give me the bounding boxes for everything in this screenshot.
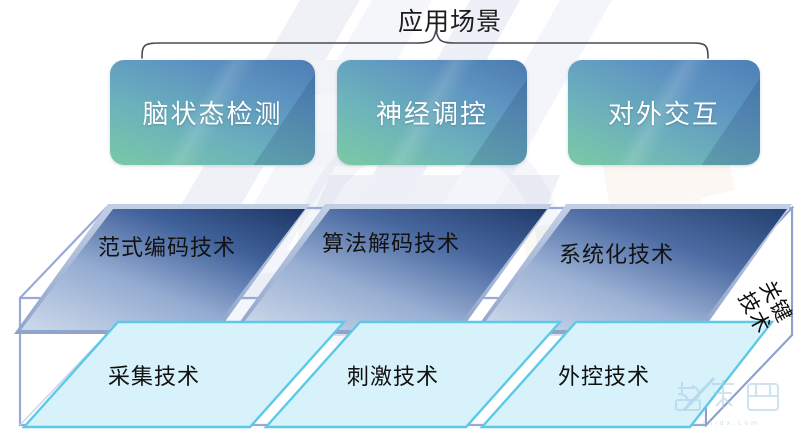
zhidx-watermark-logo: zhidx.com [670, 376, 792, 427]
scenario-card-external-interaction[interactable]: 对外交互 [568, 60, 760, 165]
curly-brace-icon [140, 28, 710, 65]
scenario-card-neuromodulation[interactable]: 神经调控 [337, 60, 527, 165]
top-layer-label-paradigm-encoding[interactable]: 范式编码技术 [98, 230, 236, 262]
top-layer-label-algorithm-decoding[interactable]: 算法解码技术 [322, 226, 460, 258]
scenario-card-brain-state[interactable]: 脑状态检测 [110, 60, 315, 165]
bottom-layer-label-acquisition[interactable]: 采集技术 [108, 359, 200, 391]
diagram-canvas: 应用场景 脑状态检测 神经调控 对外交互 [0, 0, 800, 433]
bottom-layer-label-external-control[interactable]: 外控技术 [558, 359, 650, 391]
scenario-card-label: 脑状态检测 [142, 94, 282, 131]
watermark-domain-text: zhidx.com [670, 420, 792, 427]
top-layer-label-systemization[interactable]: 系统化技术 [559, 237, 674, 269]
scenario-card-label: 对外交互 [608, 94, 720, 131]
scenario-card-label: 神经调控 [376, 94, 488, 131]
bottom-layer-label-stimulation[interactable]: 刺激技术 [347, 359, 439, 391]
scenario-card-row: 脑状态检测 神经调控 对外交互 [0, 60, 800, 175]
